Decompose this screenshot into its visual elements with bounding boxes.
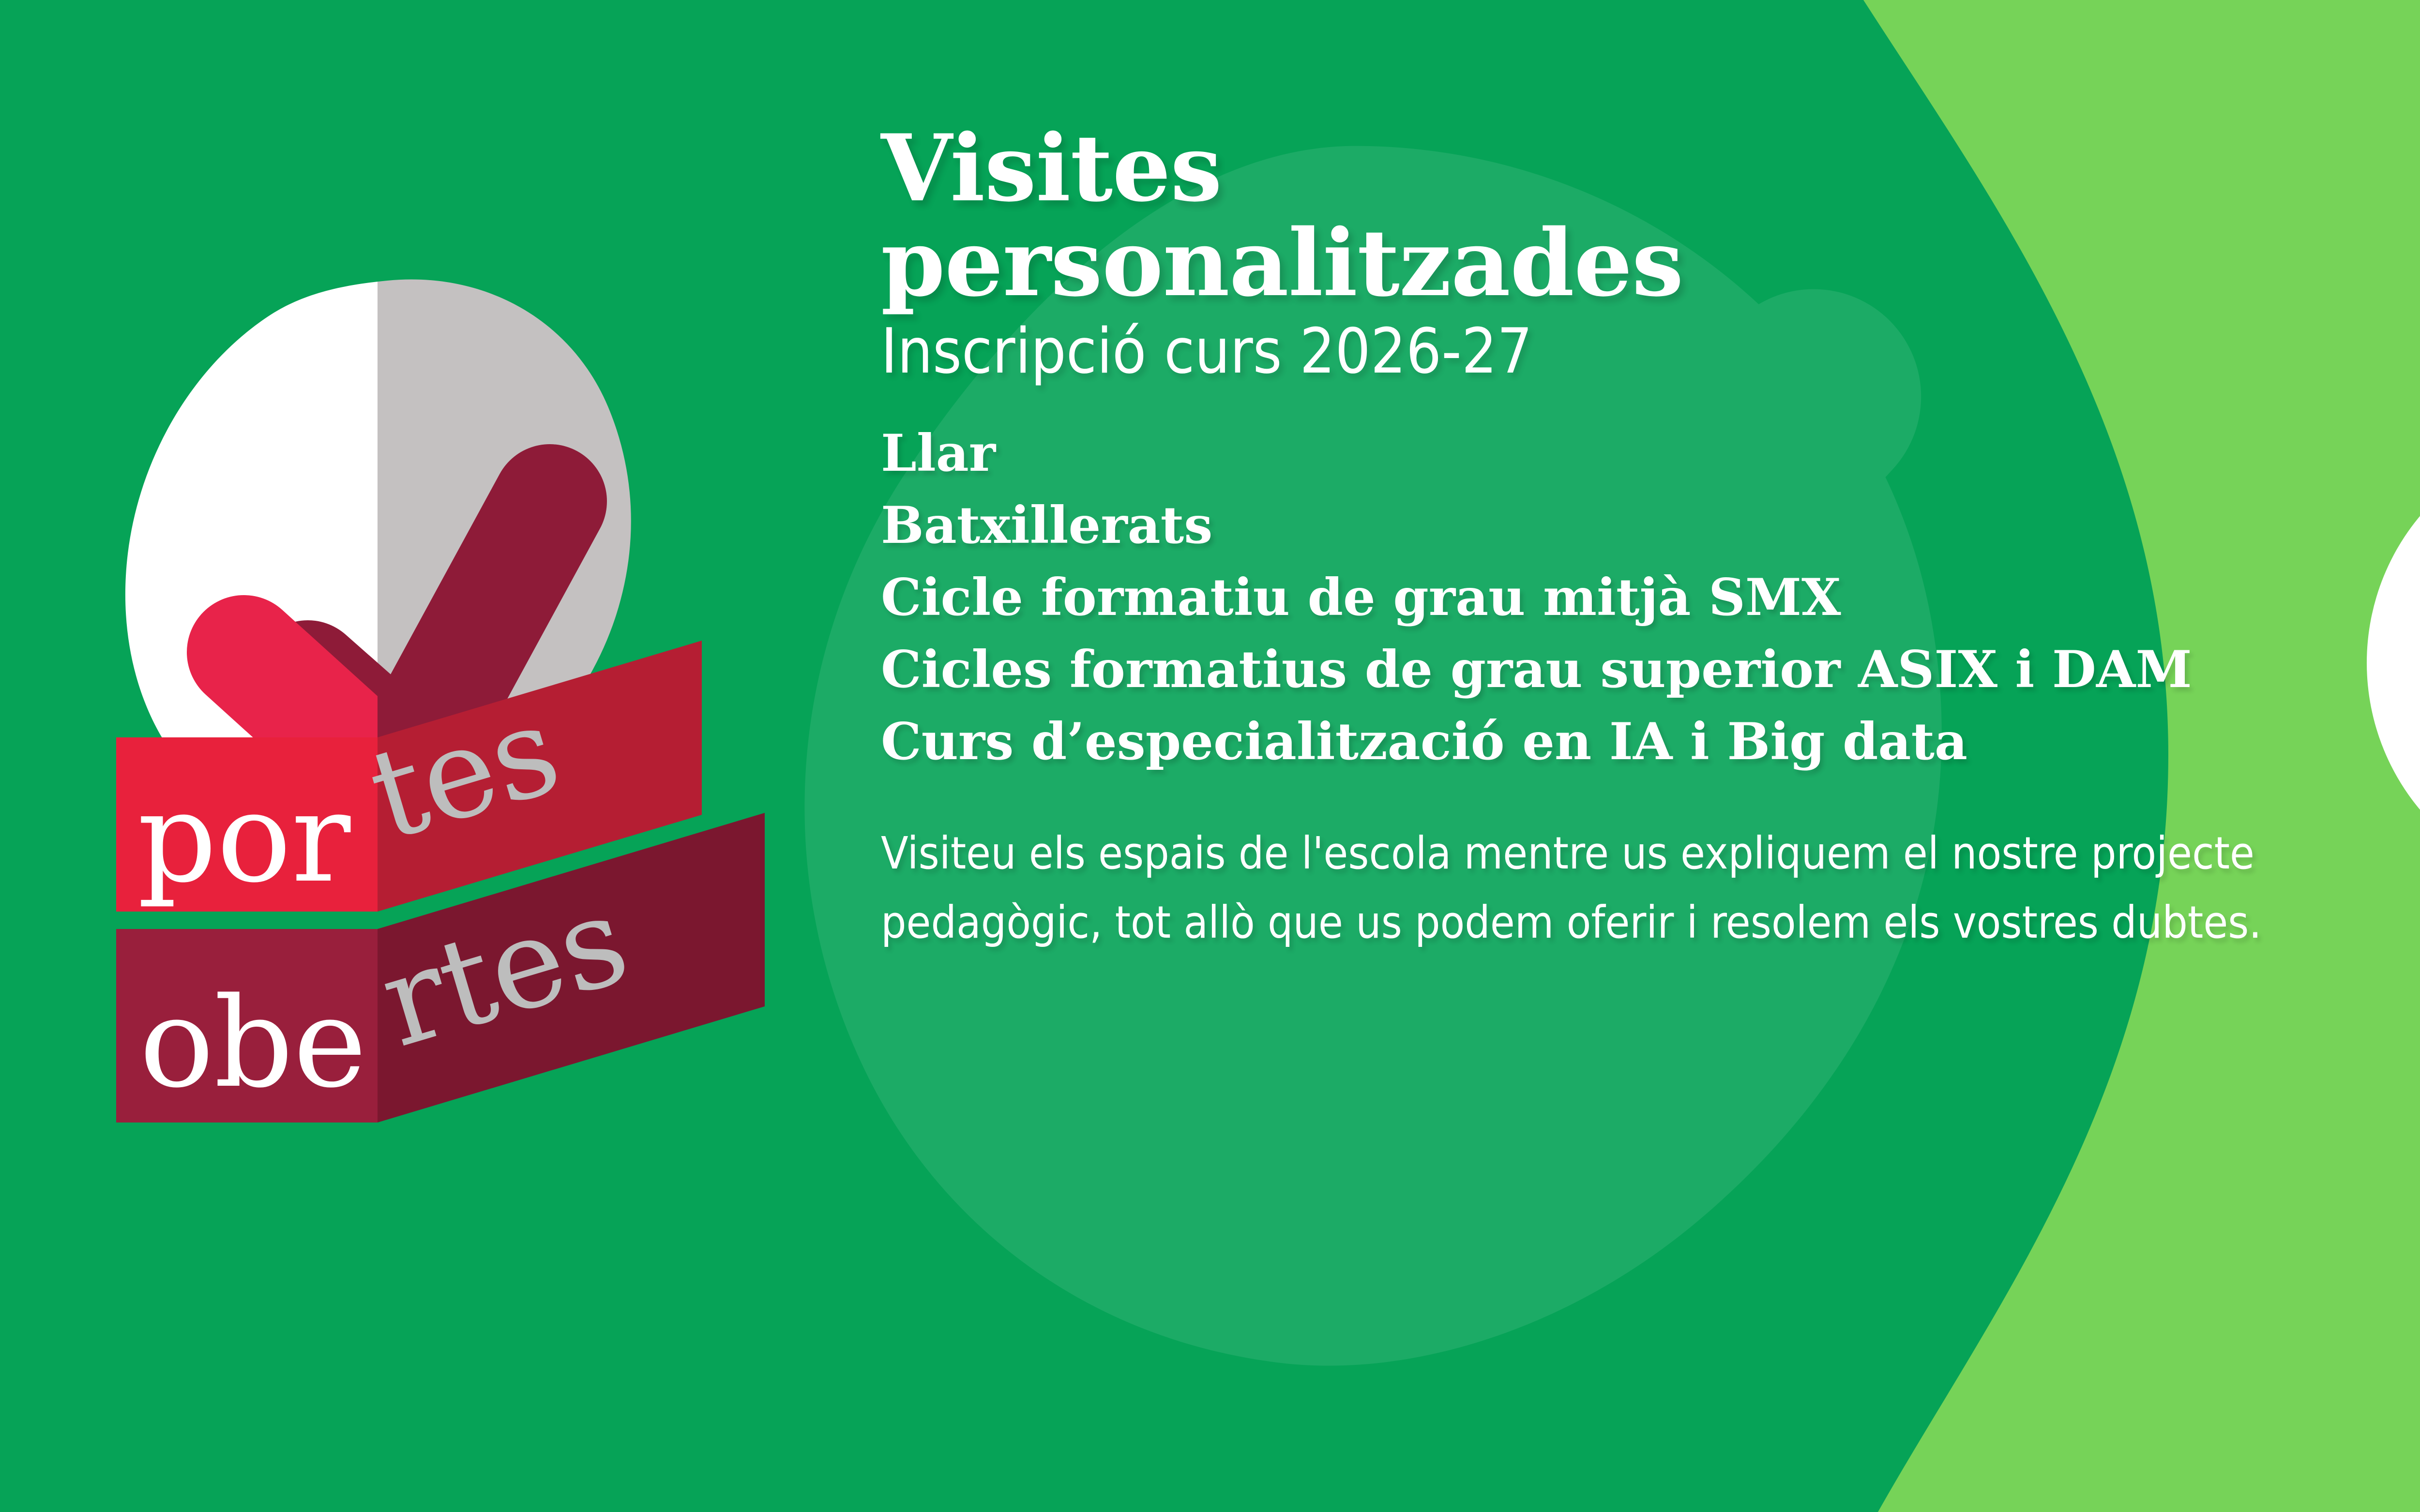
list-item: Batxillerats	[881, 489, 2420, 561]
description-text: Visiteu els espais de l'escola mentre us…	[881, 819, 2420, 957]
portes-obertes-logo: por tes obe rtes	[97, 261, 784, 1147]
title-line-1: Visites	[881, 121, 2420, 216]
list-item: Cicles formatius de grau superior ASIX i…	[881, 633, 2420, 705]
cta-line-2: la teva	[2367, 629, 2420, 698]
svg-text:por: por	[137, 766, 351, 910]
title-line-2: personalitzades	[881, 216, 2420, 311]
list-item: Cicle formatiu de grau mitjà SMX	[881, 561, 2420, 633]
course-list: Llar Batxillerats Cicle formatiu de grau…	[881, 417, 2420, 778]
cta-line-1: Concerta	[2367, 559, 2420, 629]
content-block: Visites personalitzades Inscripció curs …	[881, 121, 2420, 957]
svg-text:obe: obe	[139, 971, 367, 1115]
cta-line-3: visita	[2367, 697, 2420, 766]
cta-badge[interactable]: Concerta la teva visita	[2367, 435, 2420, 890]
subtitle: Inscripció curs 2026-27	[881, 314, 2420, 389]
page-title: Visites personalitzades	[881, 121, 2420, 310]
promo-banner: por tes obe rtes Visites personalitzades…	[0, 0, 2420, 1512]
cta-label: Concerta la teva visita	[2367, 559, 2420, 766]
list-item: Llar	[881, 417, 2420, 489]
list-item: Curs d’especialització en IA i Big data	[881, 705, 2420, 778]
